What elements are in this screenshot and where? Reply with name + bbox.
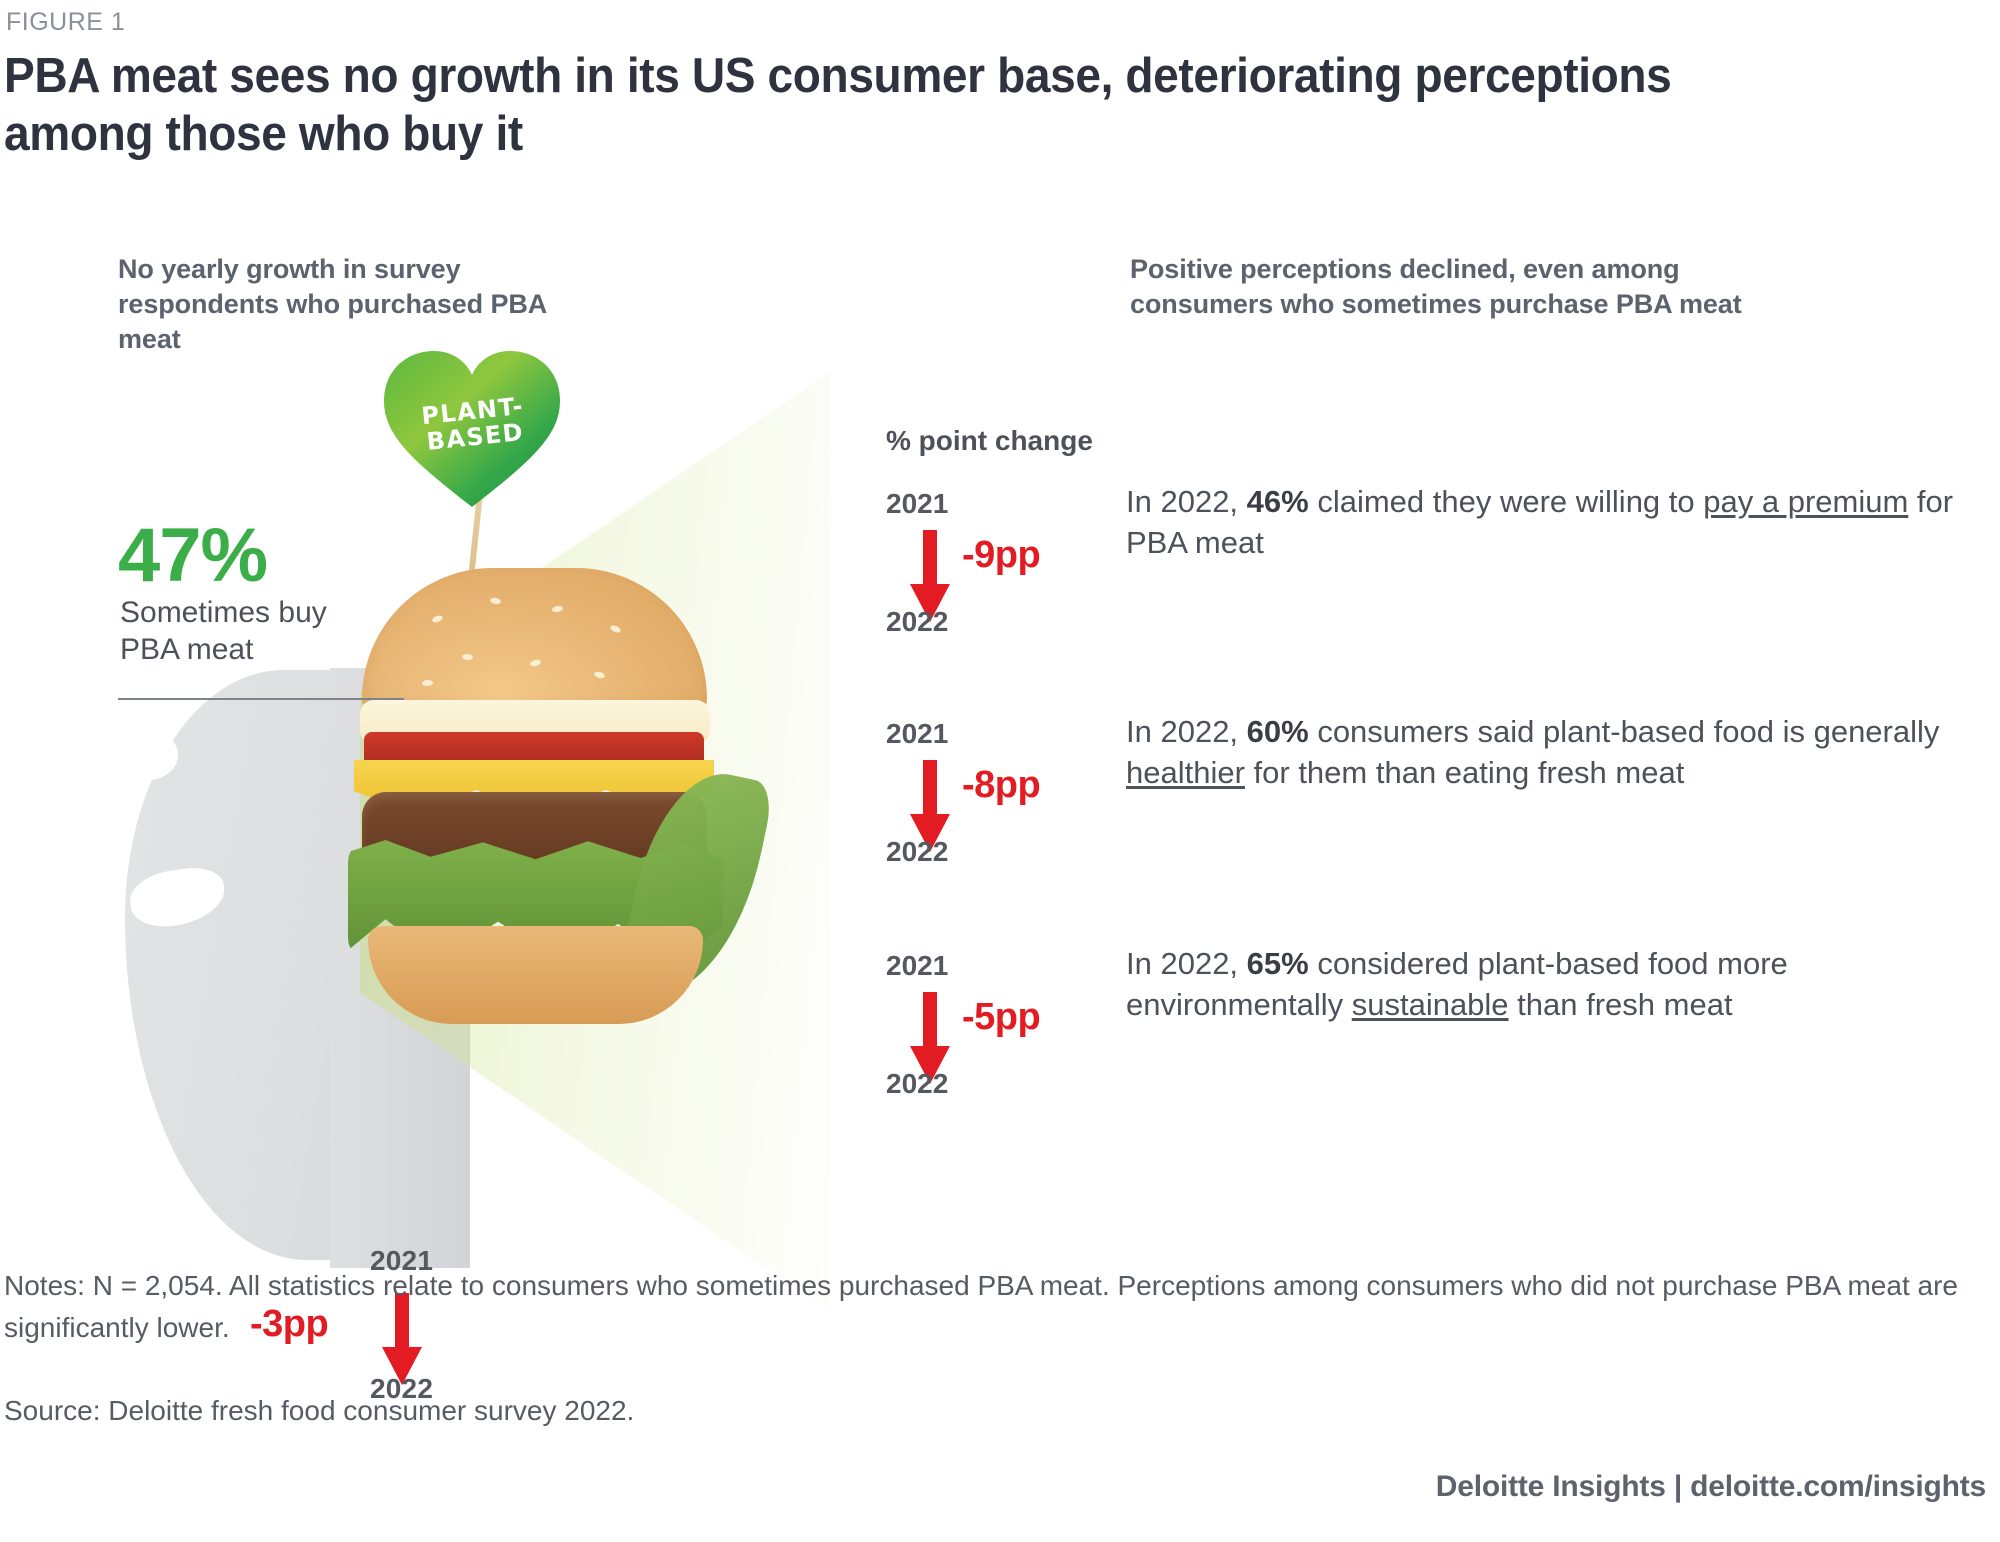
row-text-underline: healthier [1126, 755, 1245, 790]
page-title: PBA meat sees no growth in its US consum… [4, 48, 1818, 164]
bun-bottom [368, 926, 703, 1024]
row-text-pre: In 2022, [1126, 714, 1247, 749]
row-years: 2021 -9pp 2022 [886, 488, 1096, 638]
row-text-post: than fresh meat [1509, 987, 1733, 1022]
row-year-from: 2021 [886, 718, 948, 750]
notes-text: Notes: N = 2,054. All statistics relate … [4, 1265, 1979, 1349]
row-text-mid: claimed they were willing to [1309, 484, 1704, 519]
row-text-bold: 46% [1247, 484, 1309, 519]
bun-top [362, 568, 707, 718]
percent-point-change-label: % point change [886, 425, 1093, 457]
row-year-to: 2022 [886, 1068, 948, 1100]
row-text-underline: sustainable [1352, 987, 1509, 1022]
row-text-post: for them than eating fresh meat [1245, 755, 1684, 790]
row-text-pre: In 2022, [1126, 946, 1247, 981]
left-panel: PLANT- BASED 47% Sometimes buy PBA [0, 400, 880, 1230]
left-stat-value: 47% [118, 518, 267, 594]
row-years: 2021 -5pp 2022 [886, 950, 1096, 1100]
left-stat-caption: Sometimes buy PBA meat [120, 595, 380, 668]
burger-illustration: PLANT- BASED [318, 340, 738, 1280]
row-year-to: 2022 [886, 836, 948, 868]
row-description: In 2022, 65% considered plant-based food… [1126, 944, 1956, 1026]
row-year-from: 2021 [886, 488, 948, 520]
row-text-pre: In 2022, [1126, 484, 1247, 519]
row-text-bold: 60% [1247, 714, 1309, 749]
row-description: In 2022, 46% claimed they were willing t… [1126, 482, 1956, 564]
row-text-bold: 65% [1247, 946, 1309, 981]
row-text-mid: consumers said plant-based food is gener… [1309, 714, 1940, 749]
row-year-to: 2022 [886, 606, 948, 638]
row-text-underline: pay a premium [1703, 484, 1908, 519]
right-panel-subtitle: Positive perceptions declined, even amon… [1130, 252, 1830, 322]
row-delta-value: -5pp [962, 996, 1040, 1039]
row-delta-value: -9pp [962, 534, 1040, 577]
brand-footer: Deloitte Insights | deloitte.com/insight… [1436, 1470, 1986, 1504]
row-year-from: 2021 [886, 950, 948, 982]
left-divider [118, 698, 404, 700]
row-delta-value: -8pp [962, 764, 1040, 807]
map-notch-secondary [118, 730, 178, 780]
source-text: Source: Deloitte fresh food consumer sur… [4, 1390, 634, 1432]
row-description: In 2022, 60% consumers said plant-based … [1126, 712, 1956, 794]
figure-root: FIGURE 1 PBA meat sees no growth in its … [0, 0, 2000, 1542]
figure-label: FIGURE 1 [6, 8, 125, 37]
row-years: 2021 -8pp 2022 [886, 718, 1096, 868]
